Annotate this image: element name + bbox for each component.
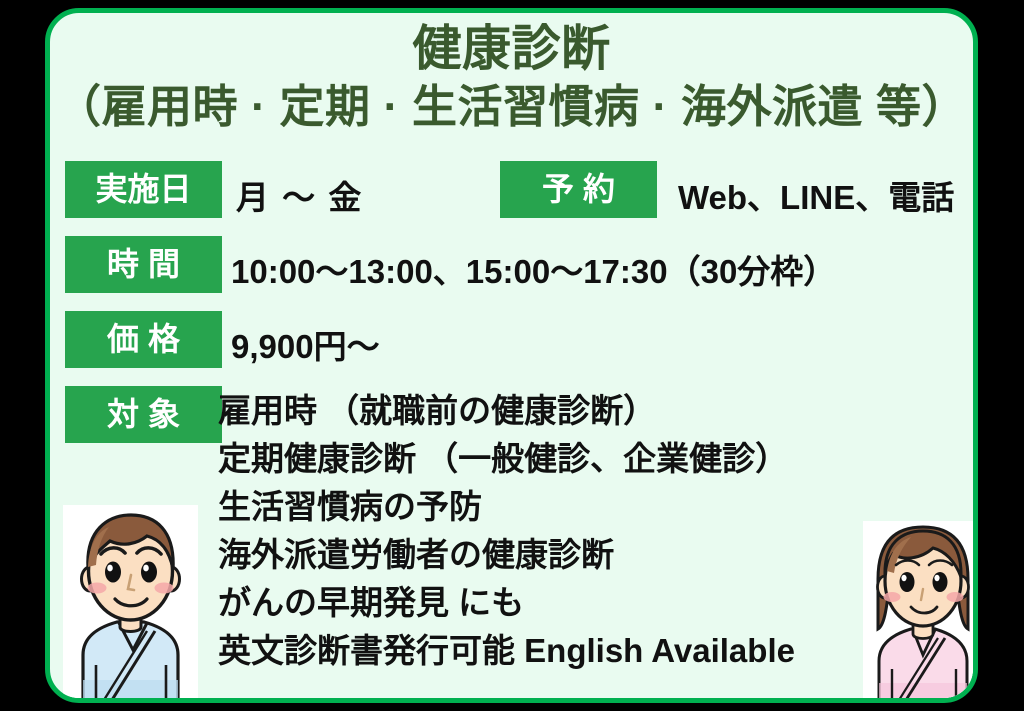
label-badge-date: 実施日: [65, 161, 222, 218]
female-patient-illustration: [863, 521, 978, 703]
poster-root: 健康診断 （雇用時 · 定期 · 生活習慣病 · 海外派遣 等） 実施日 月 〜…: [0, 0, 1024, 711]
page-title: 健康診断: [50, 19, 973, 79]
list-item: 定期健康診断 （一般健診、企業健診）: [218, 435, 978, 483]
value-hours: 10:00〜13:00、15:00〜17:30（30分枠）: [231, 245, 836, 293]
title-block: 健康診断 （雇用時 · 定期 · 生活習慣病 · 海外派遣 等）: [50, 19, 973, 135]
label-badge-reservation: 予 約: [500, 161, 657, 218]
label-badge-price: 価 格: [65, 311, 222, 368]
label-badge-hours: 時 間: [65, 236, 222, 293]
page-subtitle: （雇用時 · 定期 · 生活習慣病 · 海外派遣 等）: [50, 79, 973, 135]
value-date: 月 〜 金: [236, 171, 363, 219]
info-card: 健康診断 （雇用時 · 定期 · 生活習慣病 · 海外派遣 等） 実施日 月 〜…: [45, 8, 978, 703]
label-badge-target: 対 象: [65, 386, 222, 443]
value-reservation: Web、LINE、電話: [678, 171, 954, 219]
list-item: 雇用時 （就職前の健康診断）: [218, 387, 978, 435]
value-price: 9,900円〜: [231, 320, 380, 368]
male-patient-illustration: [63, 505, 198, 703]
